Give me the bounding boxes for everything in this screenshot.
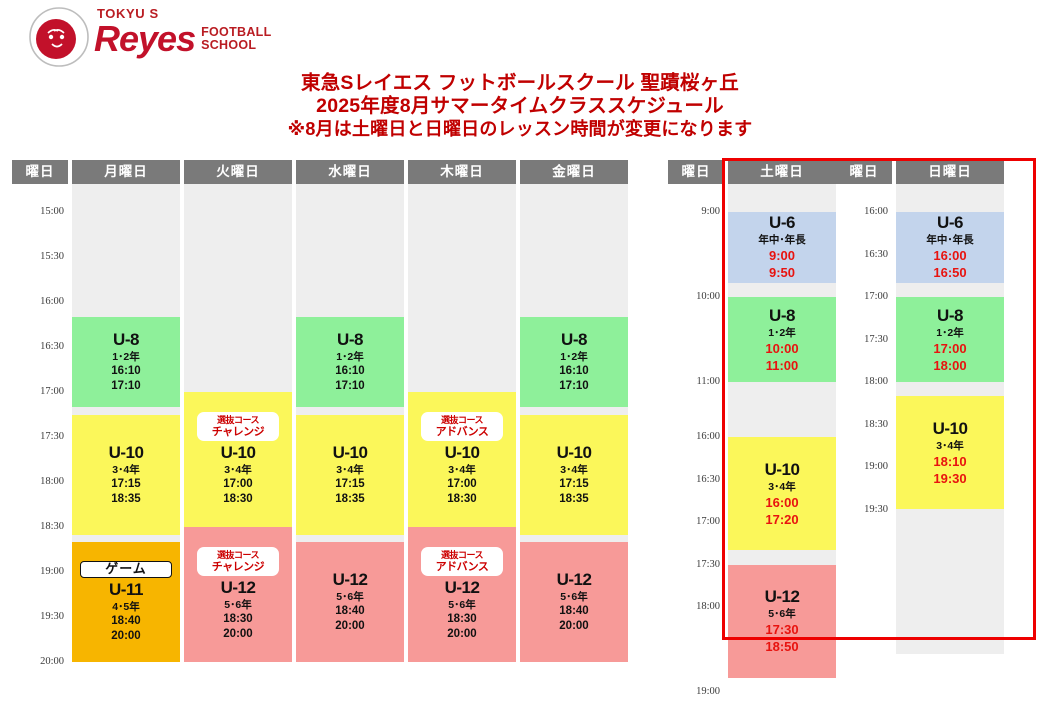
game-badge: ゲーム <box>80 561 172 578</box>
class-block[interactable]: ゲームU-114･5年18:4020:00 <box>72 542 180 662</box>
class-start-time: 16:10 <box>111 364 140 379</box>
class-end-time: 18:00 <box>933 357 966 374</box>
weekend-schedule-table: 曜日9:0010:0011:0016:0016:3017:0017:3018:0… <box>668 160 1004 654</box>
class-age-group: U-6 <box>937 213 963 233</box>
class-start-time: 18:10 <box>933 453 966 470</box>
select-course-badge: 選抜コースアドバンス <box>421 412 503 441</box>
class-block[interactable]: U-103･4年17:1518:35 <box>72 415 180 535</box>
class-end-time: 17:10 <box>111 379 140 394</box>
class-end-time: 18:30 <box>447 492 476 507</box>
time-tick-label: 9:00 <box>701 206 720 217</box>
time-column-header: 曜日 <box>668 160 724 184</box>
time-tick-label: 19:00 <box>864 461 888 472</box>
time-tick-label: 17:30 <box>864 334 888 345</box>
class-grade: 3･4年 <box>560 463 587 477</box>
time-column-header: 曜日 <box>12 160 68 184</box>
day-header-friday: 金曜日 <box>520 160 628 184</box>
class-end-time: 18:50 <box>765 638 798 655</box>
class-block[interactable]: U-125･6年18:4020:00 <box>520 542 628 662</box>
title-line-2: 2025年度8月サマータイムクラススケジュール <box>0 95 1040 118</box>
day-header-monday: 月曜日 <box>72 160 180 184</box>
class-end-time: 11:00 <box>766 357 799 374</box>
class-age-group: U-12 <box>221 578 256 598</box>
class-start-time: 16:00 <box>933 247 966 264</box>
time-tick-label: 19:30 <box>864 504 888 515</box>
class-start-time: 16:00 <box>765 494 798 511</box>
class-grade: 1･2年 <box>112 350 139 364</box>
class-end-time: 17:20 <box>765 511 798 528</box>
time-tick-label: 16:00 <box>40 296 64 307</box>
class-grade: 5･6年 <box>336 590 363 604</box>
class-end-time: 18:35 <box>335 492 364 507</box>
day-column-monday: 月曜日U-81･2年16:1017:10U-103･4年17:1518:35ゲー… <box>72 160 180 654</box>
day-column-sunday: 日曜日U-6年中･年長16:0016:50U-81･2年17:0018:00U-… <box>896 160 1004 654</box>
class-grade: 3･4年 <box>224 463 251 477</box>
day-column-saturday: 土曜日U-6年中･年長9:009:50U-81･2年10:0011:00U-10… <box>728 160 836 654</box>
class-grade: 5･6年 <box>224 598 251 612</box>
class-end-time: 20:00 <box>559 619 588 634</box>
saturday-time-column: 曜日9:0010:0011:0016:0016:3017:0017:3018:0… <box>668 160 724 654</box>
day-body-tuesday: 選抜コースチャレンジU-103･4年17:0018:30選抜コースチャレンジU-… <box>184 184 292 654</box>
class-start-time: 17:15 <box>559 477 588 492</box>
class-block[interactable]: U-103･4年17:1518:35 <box>520 415 628 535</box>
time-tick-label: 15:00 <box>40 206 64 217</box>
class-age-group: U-10 <box>109 443 144 463</box>
time-tick-label: 17:00 <box>40 386 64 397</box>
class-end-time: 17:10 <box>559 379 588 394</box>
sunday-time-column: 曜日16:0016:3017:0017:3018:0018:3019:0019:… <box>836 160 892 654</box>
badge-line-2: チャレンジ <box>201 561 275 573</box>
badge-line-1: 選抜コース <box>201 549 275 561</box>
day-body-monday: U-81･2年16:1017:10U-103･4年17:1518:35ゲームU-… <box>72 184 180 654</box>
class-age-group: U-12 <box>765 587 800 607</box>
class-grade: 5･6年 <box>768 607 795 621</box>
class-grade: 1･2年 <box>936 326 963 340</box>
brand-logo: TOKYU S Reyes FOOTBALL SCHOOL <box>28 4 348 70</box>
time-axis: 16:0016:3017:0017:3018:0018:3019:0019:30 <box>836 184 892 654</box>
time-axis: 9:0010:0011:0016:0016:3017:0017:3018:001… <box>668 184 724 654</box>
class-start-time: 18:40 <box>559 604 588 619</box>
time-tick-label: 16:30 <box>864 249 888 260</box>
class-age-group: U-10 <box>765 460 800 480</box>
time-tick-label: 16:00 <box>696 431 720 442</box>
time-tick-label: 16:30 <box>696 474 720 485</box>
class-start-time: 16:10 <box>335 364 364 379</box>
time-tick-label: 19:00 <box>40 566 64 577</box>
day-body-saturday: U-6年中･年長9:009:50U-81･2年10:0011:00U-103･4… <box>728 184 836 654</box>
class-end-time: 20:00 <box>111 629 140 644</box>
class-age-group: U-10 <box>933 419 968 439</box>
class-end-time: 18:30 <box>223 492 252 507</box>
class-age-group: U-10 <box>221 443 256 463</box>
time-tick-label: 20:00 <box>40 656 64 667</box>
class-start-time: 17:00 <box>447 477 476 492</box>
class-grade: 4･5年 <box>112 600 139 614</box>
class-block[interactable]: U-103･4年18:1019:30 <box>896 396 1004 509</box>
class-block[interactable]: U-103･4年16:0017:20 <box>728 437 836 550</box>
class-grade: 1･2年 <box>336 350 363 364</box>
class-end-time: 16:50 <box>933 264 966 281</box>
select-course-badge: 選抜コースチャレンジ <box>197 547 279 576</box>
badge-line-1: 選抜コース <box>425 414 499 426</box>
class-start-time: 9:00 <box>769 247 795 264</box>
class-start-time: 18:30 <box>447 612 476 627</box>
time-tick-label: 10:00 <box>696 291 720 302</box>
day-header-thursday: 木曜日 <box>408 160 516 184</box>
badge-line-2: ゲーム <box>83 563 169 575</box>
class-block[interactable]: 選抜コースチャレンジU-103･4年17:0018:30 <box>184 392 292 527</box>
logo-reyes-text: Reyes <box>94 21 195 57</box>
day-header-tuesday: 火曜日 <box>184 160 292 184</box>
time-axis: 15:0015:3016:0016:3017:0017:3018:0018:30… <box>12 184 68 654</box>
day-header-wednesday: 水曜日 <box>296 160 404 184</box>
select-course-badge: 選抜コースアドバンス <box>421 547 503 576</box>
class-block[interactable]: 選抜コースアドバンスU-125･6年18:3020:00 <box>408 527 516 662</box>
class-end-time: 18:35 <box>111 492 140 507</box>
select-course-badge: 選抜コースチャレンジ <box>197 412 279 441</box>
day-header-saturday: 土曜日 <box>728 160 836 184</box>
class-block[interactable]: U-125･6年18:4020:00 <box>296 542 404 662</box>
class-grade: 5･6年 <box>560 590 587 604</box>
class-age-group: U-12 <box>557 570 592 590</box>
class-end-time: 20:00 <box>447 627 476 642</box>
class-grade: 年中･年長 <box>926 233 973 247</box>
class-grade: 3･4年 <box>336 463 363 477</box>
class-block[interactable]: 選抜コースアドバンスU-103･4年17:0018:30 <box>408 392 516 527</box>
day-body-sunday: U-6年中･年長16:0016:50U-81･2年17:0018:00U-103… <box>896 184 1004 654</box>
class-start-time: 17:15 <box>111 477 140 492</box>
day-column-friday: 金曜日U-81･2年16:1017:10U-103･4年17:1518:35U-… <box>520 160 628 654</box>
class-age-group: U-10 <box>557 443 592 463</box>
badge-line-1: 選抜コース <box>425 549 499 561</box>
class-block[interactable]: U-81･2年16:1017:10 <box>72 317 180 407</box>
class-start-time: 16:10 <box>559 364 588 379</box>
lion-crest-icon <box>28 6 90 68</box>
weekday-time-column: 曜日15:0015:3016:0016:3017:0017:3018:0018:… <box>12 160 68 654</box>
class-start-time: 17:00 <box>933 340 966 357</box>
class-block[interactable]: U-103･4年17:1518:35 <box>296 415 404 535</box>
class-end-time: 18:35 <box>559 492 588 507</box>
class-block[interactable]: U-81･2年16:1017:10 <box>296 317 404 407</box>
class-age-group: U-10 <box>333 443 368 463</box>
logo-school-text: SCHOOL <box>201 39 271 52</box>
day-column-thursday: 木曜日選抜コースアドバンスU-103･4年17:0018:30選抜コースアドバン… <box>408 160 516 654</box>
class-grade: 年中･年長 <box>758 233 805 247</box>
badge-line-2: アドバンス <box>425 426 499 438</box>
class-grade: 5･6年 <box>448 598 475 612</box>
time-tick-label: 17:00 <box>696 516 720 527</box>
class-end-time: 20:00 <box>335 619 364 634</box>
badge-line-2: アドバンス <box>425 561 499 573</box>
weekday-schedule-table: 曜日15:0015:3016:0016:3017:0017:3018:0018:… <box>12 160 628 654</box>
class-block[interactable]: U-81･2年17:0018:00 <box>896 297 1004 382</box>
class-end-time: 9:50 <box>769 264 795 281</box>
class-start-time: 18:40 <box>335 604 364 619</box>
class-grade: 3･4年 <box>768 480 795 494</box>
class-block[interactable]: U-81･2年16:1017:10 <box>520 317 628 407</box>
class-block[interactable]: U-6年中･年長16:0016:50 <box>896 212 1004 283</box>
class-grade: 3･4年 <box>936 439 963 453</box>
time-tick-label: 18:30 <box>40 521 64 532</box>
title-line-3: ※8月は土曜日と日曜日のレッスン時間が変更になります <box>0 118 1040 141</box>
class-age-group: U-8 <box>113 330 139 350</box>
day-body-wednesday: U-81･2年16:1017:10U-103･4年17:1518:35U-125… <box>296 184 404 654</box>
class-age-group: U-8 <box>337 330 363 350</box>
day-column-wednesday: 水曜日U-81･2年16:1017:10U-103･4年17:1518:35U-… <box>296 160 404 654</box>
time-tick-label: 17:30 <box>696 559 720 570</box>
time-tick-label: 18:30 <box>864 419 888 430</box>
day-body-friday: U-81･2年16:1017:10U-103･4年17:1518:35U-125… <box>520 184 628 654</box>
class-start-time: 10:00 <box>765 340 798 357</box>
day-header-sunday: 日曜日 <box>896 160 1004 184</box>
class-age-group: U-6 <box>769 213 795 233</box>
class-block[interactable]: U-81･2年10:0011:00 <box>728 297 836 382</box>
class-end-time: 19:30 <box>933 470 966 487</box>
class-age-group: U-8 <box>769 306 795 326</box>
time-tick-label: 18:00 <box>40 476 64 487</box>
class-age-group: U-8 <box>937 306 963 326</box>
class-age-group: U-8 <box>561 330 587 350</box>
class-block[interactable]: U-6年中･年長9:009:50 <box>728 212 836 283</box>
class-age-group: U-12 <box>445 578 480 598</box>
class-block[interactable]: U-125･6年17:3018:50 <box>728 565 836 678</box>
time-tick-label: 16:30 <box>40 341 64 352</box>
class-age-group: U-12 <box>333 570 368 590</box>
time-tick-label: 19:00 <box>696 686 720 697</box>
day-body-thursday: 選抜コースアドバンスU-103･4年17:0018:30選抜コースアドバンスU-… <box>408 184 516 654</box>
time-tick-label: 18:00 <box>696 601 720 612</box>
time-tick-label: 11:00 <box>696 376 720 387</box>
class-end-time: 20:00 <box>223 627 252 642</box>
class-grade: 1･2年 <box>560 350 587 364</box>
time-column-header: 曜日 <box>836 160 892 184</box>
class-grade: 1･2年 <box>768 326 795 340</box>
time-tick-label: 19:30 <box>40 611 64 622</box>
class-grade: 3･4年 <box>112 463 139 477</box>
time-tick-label: 18:00 <box>864 376 888 387</box>
class-age-group: U-11 <box>109 580 143 600</box>
title-line-1: 東急Sレイエス フットボールスクール 聖蹟桜ヶ丘 <box>0 72 1040 95</box>
class-start-time: 18:40 <box>111 614 140 629</box>
class-block[interactable]: 選抜コースチャレンジU-125･6年18:3020:00 <box>184 527 292 662</box>
class-age-group: U-10 <box>445 443 480 463</box>
time-tick-label: 15:30 <box>40 251 64 262</box>
class-grade: 3･4年 <box>448 463 475 477</box>
time-tick-label: 17:30 <box>40 431 64 442</box>
badge-line-1: 選抜コース <box>201 414 275 426</box>
day-column-tuesday: 火曜日選抜コースチャレンジU-103･4年17:0018:30選抜コースチャレン… <box>184 160 292 654</box>
class-end-time: 17:10 <box>335 379 364 394</box>
page-title: 東急Sレイエス フットボールスクール 聖蹟桜ヶ丘 2025年度8月サマータイムク… <box>0 72 1040 141</box>
class-start-time: 17:30 <box>765 621 798 638</box>
badge-line-2: チャレンジ <box>201 426 275 438</box>
class-start-time: 18:30 <box>223 612 252 627</box>
time-tick-label: 16:00 <box>864 206 888 217</box>
class-start-time: 17:00 <box>223 477 252 492</box>
class-start-time: 17:15 <box>335 477 364 492</box>
time-tick-label: 17:00 <box>864 291 888 302</box>
